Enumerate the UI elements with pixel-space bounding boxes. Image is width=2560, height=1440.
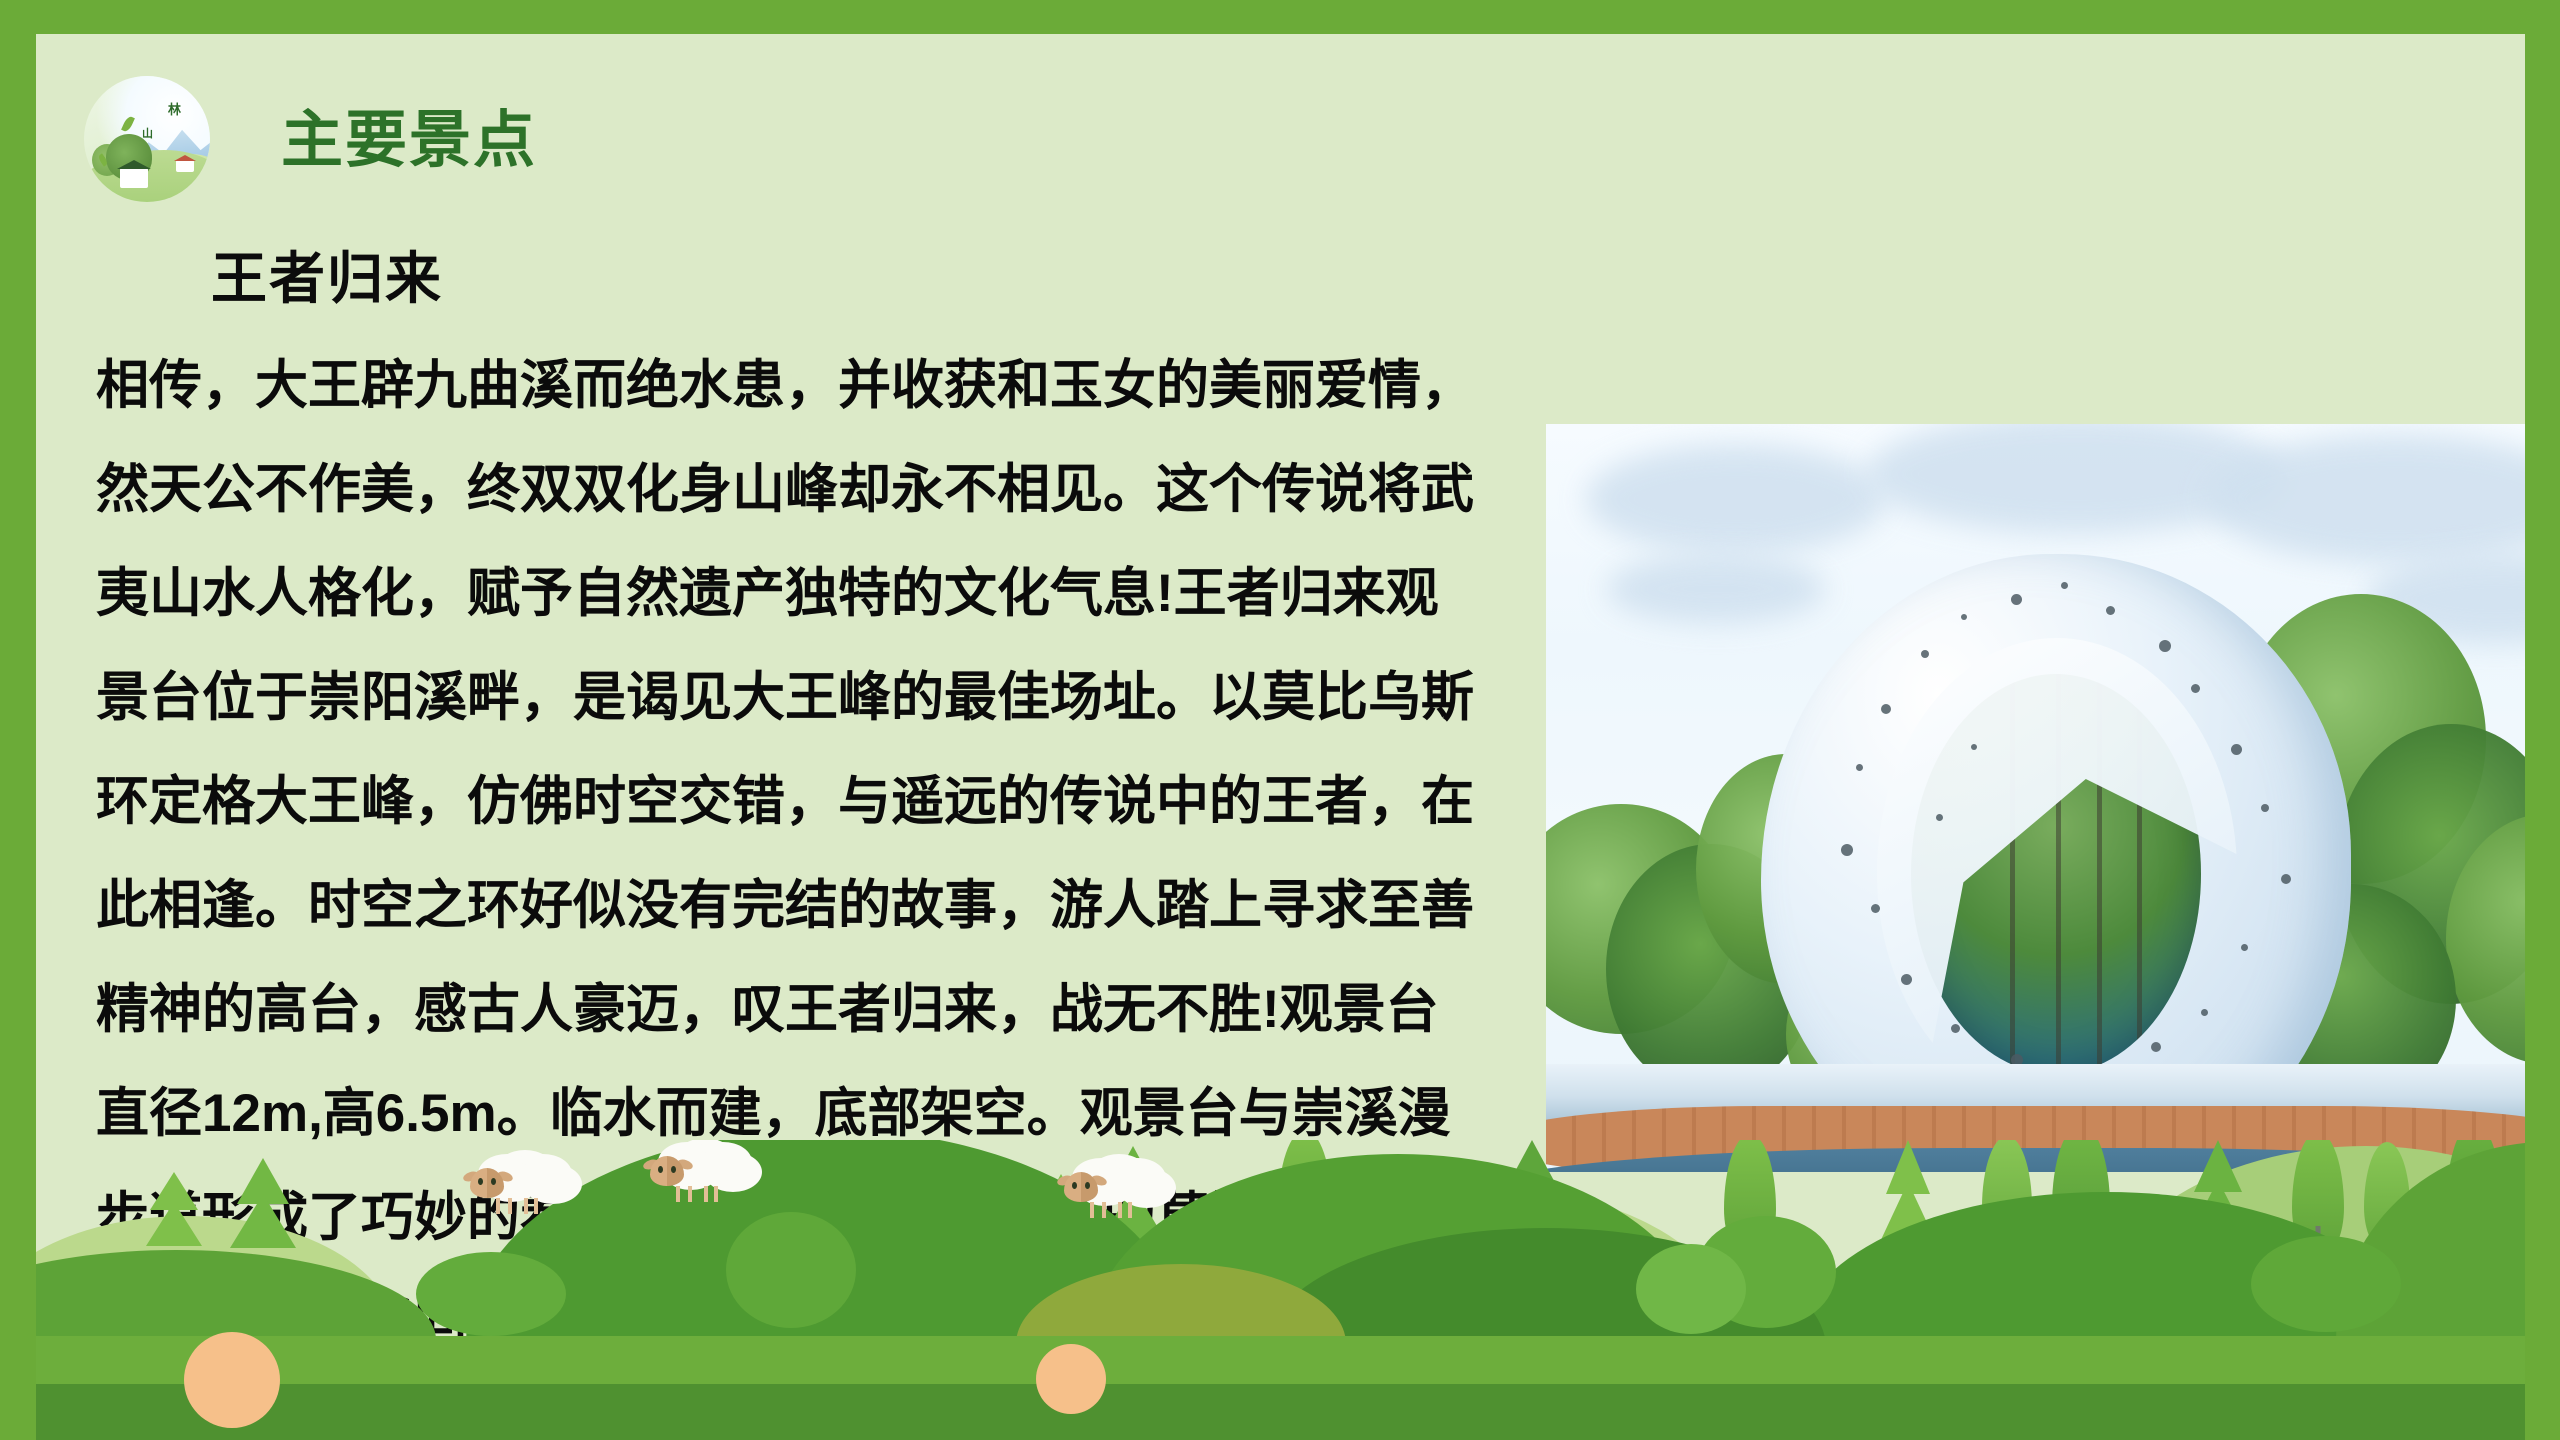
content-panel: 林 山 主要景点 王者归来 相传，大王辟九曲溪而绝水患，并收获和玉女的美丽爱情，… — [36, 34, 2525, 1440]
scene-hill — [2086, 1146, 2525, 1336]
scene-bush — [1696, 1216, 1836, 1328]
body-line: 环定格大王峰，仿佛时空交错，与遥远的传说中的王者，在 — [96, 750, 1556, 854]
watercolor-countryside-logo-icon: 林 山 — [84, 76, 210, 202]
body-line: 供了与大王峰同框的完美角度。在山光水色间，寻找属于你 — [96, 1270, 1556, 1374]
body-line: 此相逢。时空之环好似没有完结的故事，游人踏上寻求至善 — [96, 854, 1556, 958]
body-line: 景台位于崇阳溪畔，是谒见大王峰的最佳场址。以莫比乌斯 — [96, 646, 1556, 750]
logo-badge-secondary: 山 — [142, 128, 153, 139]
body-line: 精神的高台，感古人豪迈，叹王者归来，战无不胜!观景台 — [96, 958, 1556, 1062]
page-subtitle: 王者归来 — [211, 234, 443, 315]
body-line: 相传，大王辟九曲溪而绝水患，并收获和玉女的美丽爱情， — [96, 334, 1556, 438]
scene-bush — [2251, 1236, 2401, 1332]
page-title: 主要景点 — [281, 89, 537, 179]
logo-house-far — [176, 160, 194, 172]
logo-badge-primary: 林 — [168, 104, 181, 117]
slide-root: 林 山 主要景点 王者归来 相传，大王辟九曲溪而绝水患，并收获和玉女的美丽爱情，… — [0, 0, 2560, 1440]
scene-hill — [2336, 1142, 2525, 1342]
body-line: 直径12m,高6.5m。临水而建，底部架空。观景台与崇溪漫 — [96, 1062, 1556, 1166]
body-text-block: 相传，大王辟九曲溪而绝水患，并收获和玉女的美丽爱情， 然天公不作美，终双双化身山… — [96, 334, 1556, 1440]
mobius-ring-viewing-platform-photo — [1546, 424, 2525, 1172]
body-line: 夷山水人格化，赋予自然遗产独特的文化气息!王者归来观 — [96, 542, 1556, 646]
scene-bush — [1636, 1244, 1746, 1334]
scene-hill — [1796, 1192, 2416, 1342]
body-line: 的绝佳机位。 — [96, 1374, 1556, 1440]
body-line: 步道形成了巧妙的看与被看的关系，而台上的莫比乌斯环提 — [96, 1166, 1556, 1270]
logo-house — [120, 168, 148, 188]
body-line: 然天公不作美，终双双化身山峰却永不相见。这个传说将武 — [96, 438, 1556, 542]
photo-cloud — [1586, 444, 1886, 554]
